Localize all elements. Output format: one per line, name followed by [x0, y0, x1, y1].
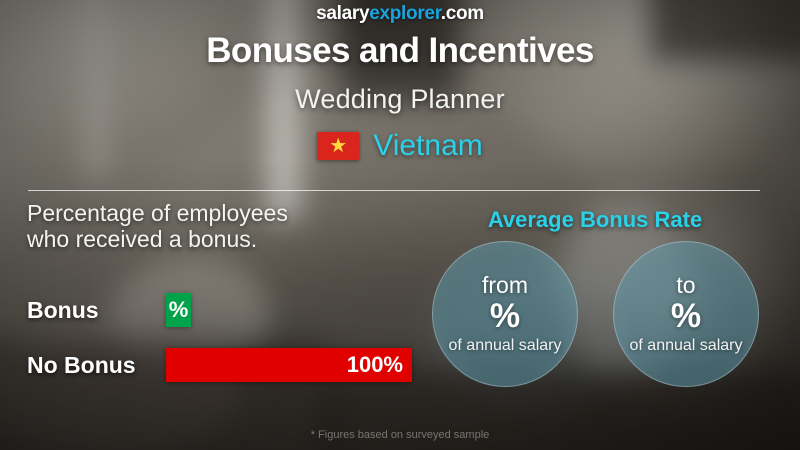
page-subtitle: Wedding Planner	[0, 84, 800, 115]
bar-value-no-bonus: 100%	[166, 348, 412, 382]
bar-value-bonus: %	[166, 293, 191, 327]
bonus-rate-from-circle: from % of annual salary	[432, 241, 578, 387]
heading-line-2: who received a bonus.	[27, 226, 427, 252]
bar-label-no-bonus: No Bonus	[27, 352, 166, 379]
flag-star-glyph: ★	[329, 136, 347, 156]
header-divider	[28, 190, 760, 191]
infographic-card: salaryexplorer.com Bonuses and Incentive…	[0, 0, 800, 450]
footnote: * Figures based on surveyed sample	[0, 429, 800, 441]
bonus-percentage-heading: Percentage of employees who received a b…	[27, 200, 427, 253]
circle-to-value: %	[671, 299, 701, 335]
site-logo[interactable]: salaryexplorer.com	[0, 3, 800, 25]
circle-from-word: from	[482, 274, 528, 297]
vietnam-flag-icon: ★	[317, 132, 359, 160]
circle-to-word: to	[676, 274, 695, 297]
country-row: ★ Vietnam	[0, 129, 800, 163]
bonus-rate-to-circle: to % of annual salary	[613, 241, 759, 387]
bar-row-bonus: Bonus %	[27, 293, 191, 327]
logo-part-com: .com	[441, 3, 484, 24]
bar-label-bonus: Bonus	[27, 297, 166, 324]
page-title: Bonuses and Incentives	[0, 31, 800, 71]
heading-line-1: Percentage of employees	[27, 200, 427, 226]
average-bonus-rate-heading: Average Bonus Rate	[425, 207, 765, 233]
circle-from-value: %	[490, 299, 520, 335]
circle-to-caption: of annual salary	[630, 338, 743, 354]
logo-part-explorer: explorer	[369, 3, 441, 24]
circle-from-caption: of annual salary	[449, 338, 562, 354]
bar-row-no-bonus: No Bonus 100%	[27, 348, 412, 382]
logo-part-salary: salary	[316, 3, 369, 24]
country-name: Vietnam	[373, 129, 483, 163]
